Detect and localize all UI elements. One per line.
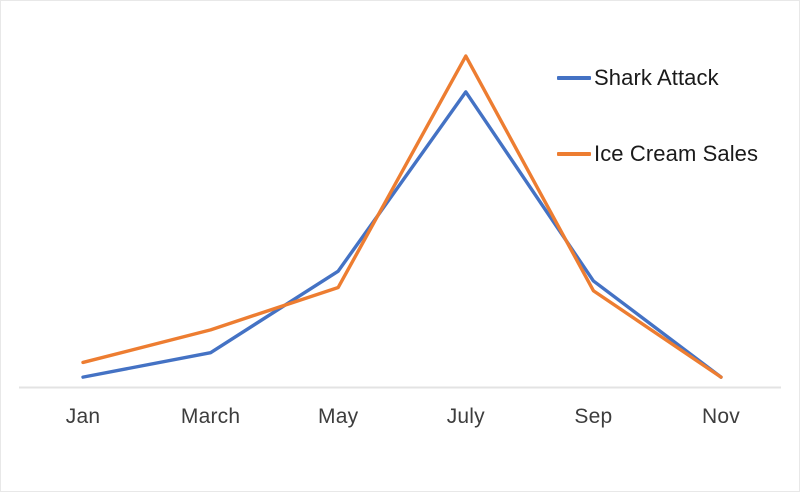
x-axis-tick-label: March	[181, 405, 240, 429]
x-axis-tick-label: May	[318, 405, 358, 429]
x-axis-tick-label: July	[447, 405, 485, 429]
legend-label: Shark Attack	[594, 65, 719, 91]
x-axis-tick-label: Nov	[702, 405, 740, 429]
legend-entry[interactable]: Ice Cream Sales	[557, 135, 797, 173]
legend-line-swatch-icon	[557, 152, 591, 156]
x-axis-tick-labels: JanMarchMayJulySepNov	[1, 405, 800, 441]
x-axis-tick-label: Jan	[66, 405, 100, 429]
chart-legend: Shark AttackIce Cream Sales	[557, 59, 797, 211]
x-axis-tick-label: Sep	[574, 405, 612, 429]
line-chart: JanMarchMayJulySepNov Shark AttackIce Cr…	[0, 0, 800, 492]
legend-label: Ice Cream Sales	[594, 141, 758, 167]
legend-line-swatch-icon	[557, 76, 591, 80]
legend-entry[interactable]: Shark Attack	[557, 59, 797, 97]
